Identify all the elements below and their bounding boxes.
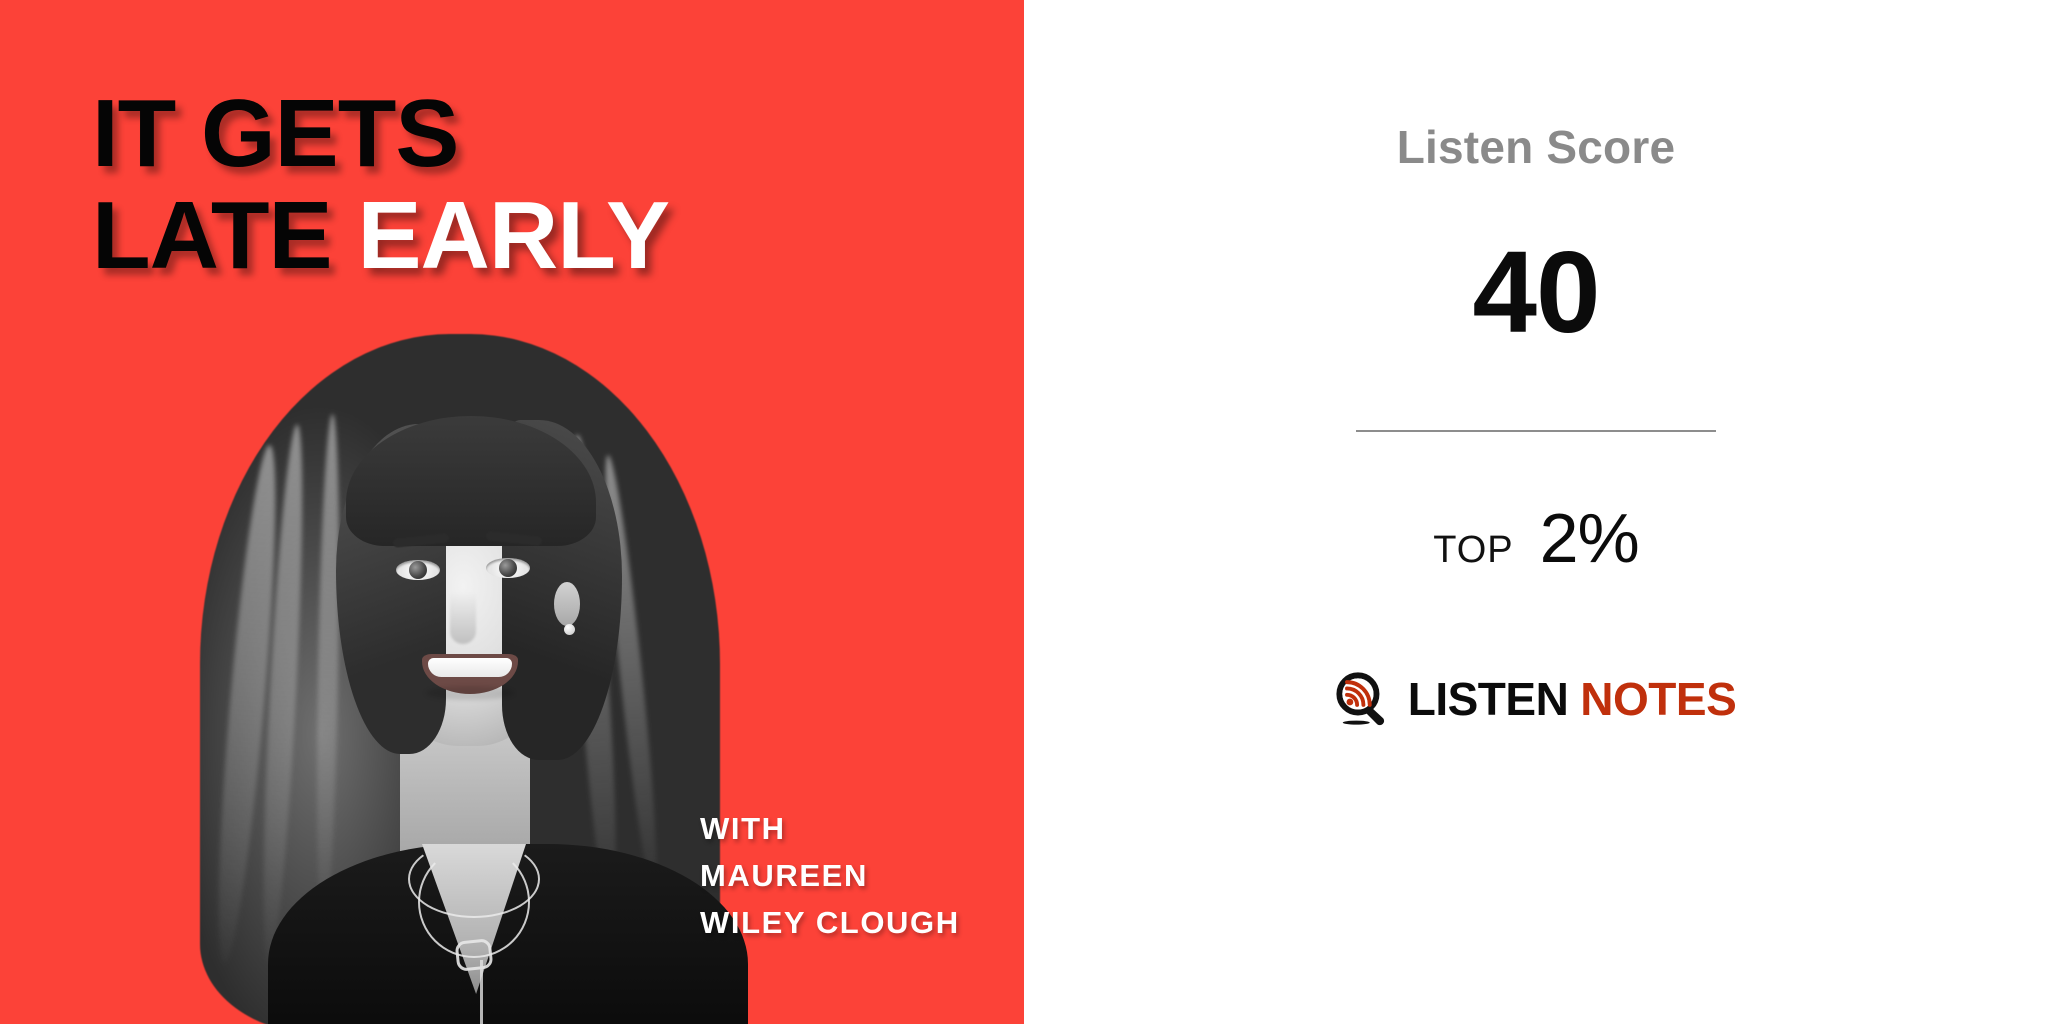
portrait-earring xyxy=(564,624,575,635)
credit-line-last: WILEY CLOUGH xyxy=(700,899,960,946)
cover-title-line-2: LATEEARLY xyxy=(92,190,792,282)
cover-title-line-1: IT GETS xyxy=(92,88,792,180)
portrait-teeth xyxy=(428,658,512,677)
cover-title-late: LATE xyxy=(92,182,332,289)
portrait-iris xyxy=(499,559,517,577)
listen-score-value: 40 xyxy=(1472,234,1599,350)
listen-notes-wordmark: LISTENNOTES xyxy=(1408,676,1737,722)
host-portrait-photo xyxy=(150,324,770,1024)
listen-score-card: IT GETS LATEEARLY WITH MAUREEN WILEY CLO… xyxy=(0,0,2048,1024)
cover-host-credit: WITH MAUREEN WILEY CLOUGH xyxy=(700,805,960,946)
credit-line-with: WITH xyxy=(700,805,960,852)
listen-notes-logo[interactable]: LISTENNOTES xyxy=(1336,672,1737,726)
portrait-nose xyxy=(450,592,476,644)
cover-title: IT GETS LATEEARLY xyxy=(92,88,792,282)
portrait-ear xyxy=(554,582,580,626)
portrait-lower-lip xyxy=(426,686,514,700)
podcast-cover-art[interactable]: IT GETS LATEEARLY WITH MAUREEN WILEY CLO… xyxy=(0,0,1024,1024)
listen-score-label: Listen Score xyxy=(1397,120,1676,174)
portrait-pendant xyxy=(455,938,494,972)
cover-title-early: EARLY xyxy=(358,182,670,289)
top-rank-label: TOP xyxy=(1433,529,1513,572)
credit-line-first: MAUREEN xyxy=(700,852,960,899)
portrait-chain-drop xyxy=(480,960,483,1024)
logo-word-listen: LISTEN xyxy=(1408,673,1569,725)
score-divider xyxy=(1356,430,1716,432)
logo-word-notes: NOTES xyxy=(1580,673,1736,725)
top-rank-percent: 2% xyxy=(1540,498,1639,578)
magnifier-rss-icon xyxy=(1336,672,1390,726)
portrait-iris xyxy=(409,561,427,579)
listen-score-panel: Listen Score 40 TOP 2% xyxy=(1024,0,2048,1024)
global-rank-row: TOP 2% xyxy=(1433,498,1639,578)
